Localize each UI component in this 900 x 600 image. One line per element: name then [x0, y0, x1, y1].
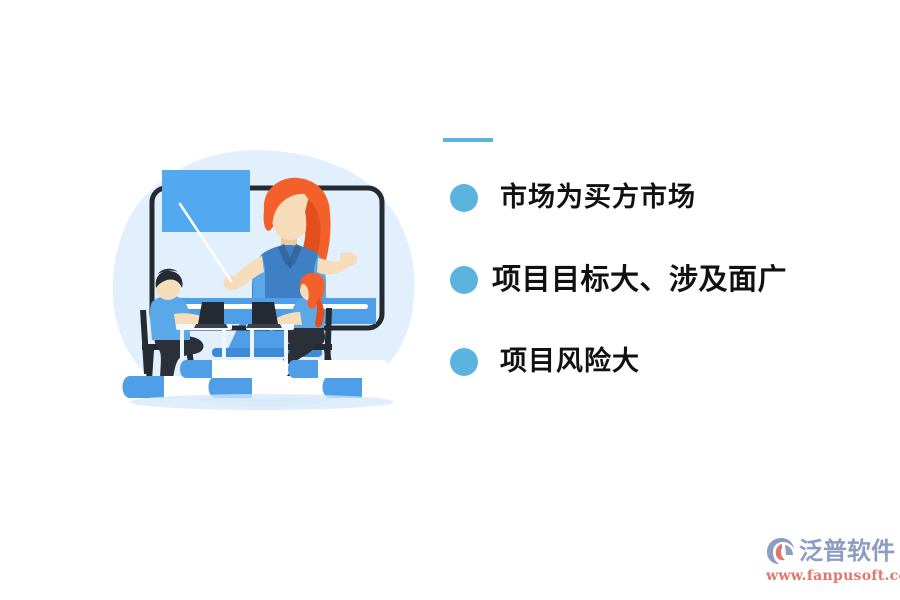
- bullet-label-1: 市场为买方市场: [500, 183, 696, 213]
- watermark-brand-text: 泛普软件: [799, 537, 895, 565]
- watermark-brand-row: 泛普软件: [766, 534, 892, 568]
- bullet-panel: 市场为买方市场 项目目标大、涉及面广 项目风险大: [440, 138, 860, 388]
- fanpusoft-logo-mark-icon: [766, 537, 796, 565]
- floor-shadow: [130, 394, 394, 410]
- book-upper-left-cover: [180, 360, 212, 378]
- bullet-label-2: 项目目标大、涉及面广: [492, 264, 787, 296]
- book-lower-far-cover: [323, 376, 363, 398]
- logo-accent-wedge: [785, 545, 793, 555]
- bullet-label-3: 项目风险大: [500, 347, 640, 377]
- laptop-left-base: [194, 324, 228, 328]
- presentation-board: [162, 170, 250, 232]
- watermark-url-text: www.fanpusoft.com: [766, 567, 892, 585]
- slide-canvas: 市场为买方市场 项目目标大、涉及面广 项目风险大 泛普软件 www.fanpus…: [0, 0, 900, 600]
- bullet-item-1: 市场为买方市场: [440, 172, 860, 224]
- bullet-dot-icon: [450, 266, 478, 294]
- accent-bar: [443, 138, 493, 142]
- logo-swoosh-inner: [776, 544, 785, 560]
- book-lower-left-cover: [123, 376, 165, 398]
- laptop-left-lid: [198, 302, 224, 324]
- bullet-item-3: 项目风险大: [440, 336, 860, 388]
- laptop-right-base: [246, 324, 282, 328]
- bullet-item-2: 项目目标大、涉及面广: [440, 254, 860, 306]
- online-training-illustration: [112, 148, 422, 413]
- bullet-dot-icon: [450, 184, 478, 212]
- laptop-right-lid: [252, 302, 278, 324]
- fanpusoft-watermark: 泛普软件 www.fanpusoft.com: [766, 534, 892, 588]
- book-upper-right-cover: [288, 360, 318, 378]
- bullet-dot-icon: [450, 348, 478, 376]
